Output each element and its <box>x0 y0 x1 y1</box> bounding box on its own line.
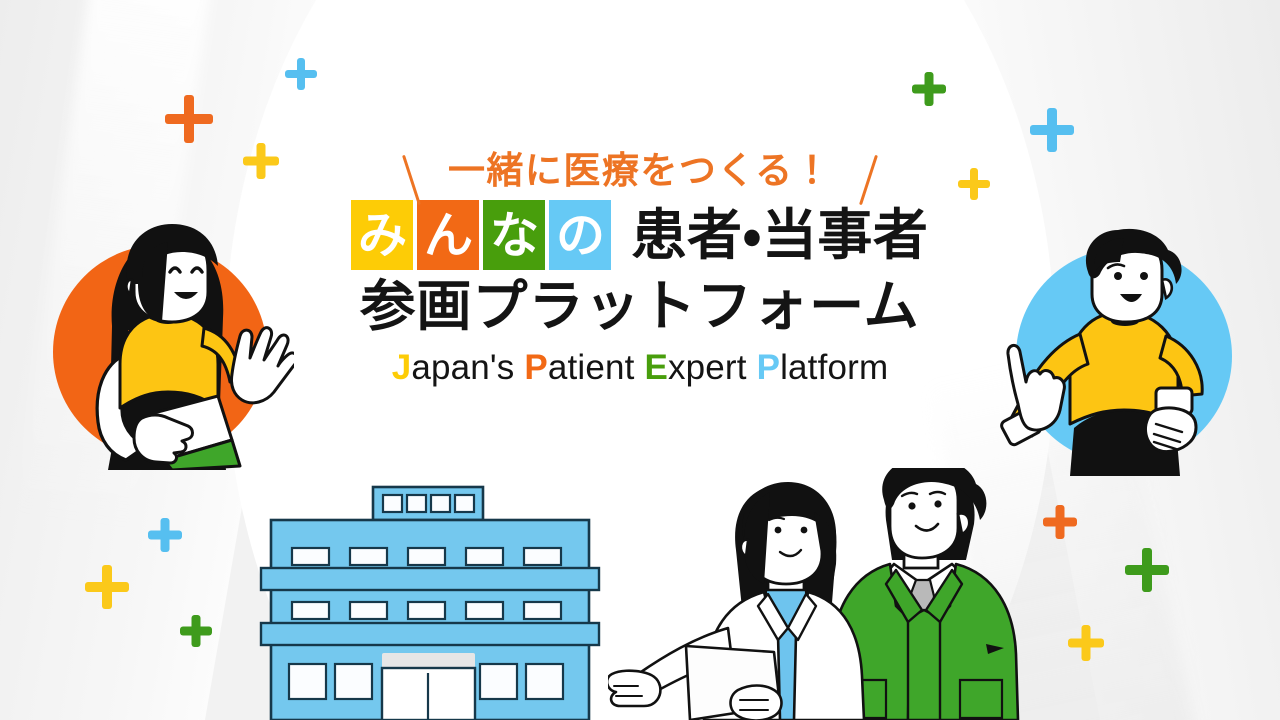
tile-mi: み <box>351 200 413 270</box>
tile-na: な <box>483 200 545 270</box>
plus-green-bottom-left <box>180 615 212 647</box>
plus-stroke-horizontal <box>85 582 129 592</box>
tile-n: ん <box>417 200 479 270</box>
doctor-and-patient-illustration <box>608 468 1028 720</box>
plus-stroke-horizontal <box>912 85 946 94</box>
english-capital-3: P <box>757 348 781 387</box>
plus-blue-top-right <box>1030 108 1074 152</box>
english-capital-2: E <box>644 348 668 387</box>
english-capital-1: P <box>524 348 548 387</box>
headline-kanji: 患者・当事者 <box>631 208 928 263</box>
english-subtitle: Japan's Patient Expert Platform <box>0 350 1280 385</box>
english-word-1: atient <box>548 348 645 387</box>
plus-stroke-horizontal <box>285 70 317 78</box>
plus-green-top-right <box>912 72 946 106</box>
hero-banner: 一緒に医療をつくる！ み ん な の 患者・当事者 参画プラットフォーム Jap… <box>0 0 1280 720</box>
plus-stroke-horizontal <box>180 627 212 636</box>
plus-orange-top-left <box>165 95 213 143</box>
english-word-0: apan's <box>411 348 524 387</box>
english-word-3: latform <box>780 348 888 387</box>
hero-tagline-text: 一緒に医療をつくる！ <box>448 149 832 192</box>
english-word-2: xpert <box>668 348 757 387</box>
plus-yellow-bottom-right <box>1068 625 1104 661</box>
hero-headline-line-1: み ん な の 患者・当事者 <box>0 200 1280 270</box>
plus-stroke-horizontal <box>1125 565 1169 575</box>
plus-green-bottom-right <box>1125 548 1169 592</box>
plus-yellow-bottom-left <box>85 565 129 609</box>
hero-title-block: 一緒に医療をつくる！ み ん な の 患者・当事者 参画プラットフォーム Jap… <box>0 152 1280 385</box>
plus-blue-top-left <box>285 58 317 90</box>
hero-headline-line-2: 参画プラットフォーム <box>0 279 1280 334</box>
plus-stroke-horizontal <box>1043 518 1077 527</box>
plus-stroke-horizontal <box>1030 125 1074 135</box>
hero-tagline: 一緒に医療をつくる！ <box>402 152 878 189</box>
doctor-pair-svg <box>608 468 1028 720</box>
tagline-slash-left-icon <box>402 155 421 205</box>
tagline-slash-right-icon <box>859 155 878 205</box>
plus-orange-bottom-right <box>1043 505 1077 539</box>
hospital-building-svg <box>255 485 605 720</box>
hospital-building-illustration <box>255 485 605 720</box>
plus-stroke-horizontal <box>1068 639 1104 648</box>
plus-stroke-horizontal <box>165 114 213 124</box>
plus-blue-bottom-left <box>148 518 182 552</box>
english-capital-0: J <box>392 348 412 387</box>
plus-stroke-horizontal <box>148 531 182 540</box>
tile-no: の <box>549 200 611 270</box>
